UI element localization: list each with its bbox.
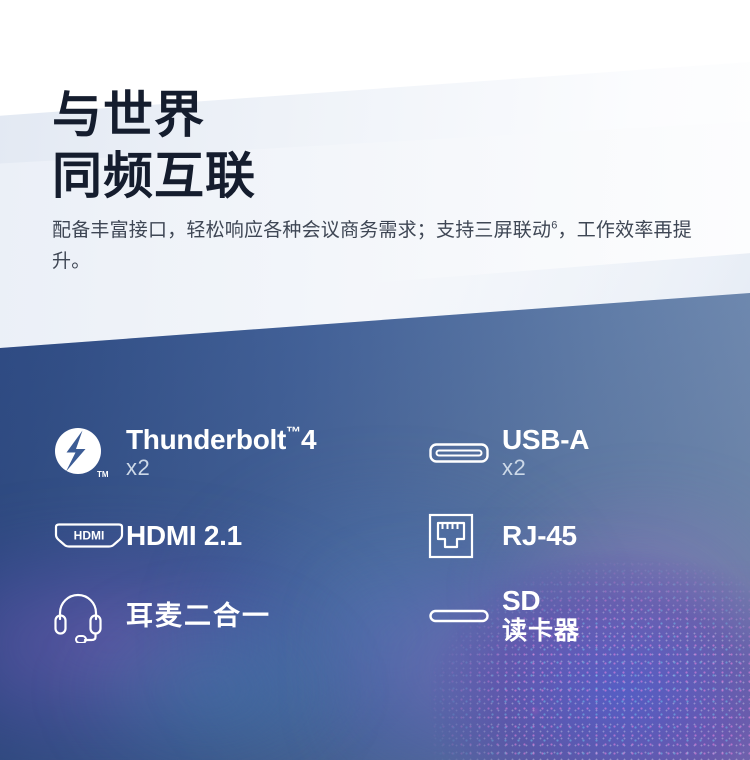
headline-line-1: 与世界: [52, 87, 205, 143]
port-labels: 耳麦二合一: [126, 602, 271, 631]
hdmi-icon: HDMI: [52, 505, 126, 567]
port-labels: SD 读卡器: [502, 586, 580, 646]
port-item-sd-card-reader[interactable]: SD 读卡器: [410, 585, 750, 647]
headset-icon: [52, 585, 126, 647]
svg-text:TM: TM: [97, 470, 108, 479]
port-name: 耳麦二合一: [126, 602, 271, 631]
ports-row: TM Thunderbolt™4 x2 USB-A x2: [0, 415, 750, 491]
headline-line-2: 同频互联: [52, 146, 256, 207]
subtitle-paragraph: 配备丰富接口，轻松响应各种会议商务需求；支持三屏联动6，工作效率再提升。: [52, 216, 692, 278]
port-name: HDMI 2.1: [126, 521, 242, 551]
port-name: RJ-45: [502, 521, 577, 551]
port-name-base: Thunderbolt: [126, 424, 286, 455]
port-name: USB-A: [502, 425, 589, 455]
ports-grid: TM Thunderbolt™4 x2 USB-A x2: [0, 415, 750, 651]
trademark-symbol: ™: [286, 424, 301, 441]
port-item-rj45[interactable]: RJ-45: [410, 505, 750, 567]
port-item-hdmi[interactable]: HDMI HDMI 2.1: [0, 505, 410, 567]
port-subtitle: 读卡器: [502, 617, 580, 647]
port-name: Thunderbolt™4: [126, 425, 316, 455]
feature-panel: 与世界 同频互联 配备丰富接口，轻松响应各种会议商务需求；支持三屏联动6，工作效…: [0, 0, 750, 760]
thunderbolt-icon: TM: [52, 422, 126, 484]
usb-a-icon: [428, 422, 502, 484]
port-item-headset[interactable]: 耳麦二合一: [0, 585, 410, 647]
ports-row: HDMI HDMI 2.1: [0, 505, 750, 567]
port-labels: USB-A x2: [502, 425, 589, 482]
port-quantity: x2: [126, 455, 316, 481]
port-labels: HDMI 2.1: [126, 521, 242, 551]
port-labels: RJ-45: [502, 521, 577, 551]
sd-card-icon: [428, 585, 502, 647]
port-quantity: x2: [502, 455, 589, 481]
port-name: SD: [502, 586, 580, 616]
port-labels: Thunderbolt™4 x2: [126, 425, 316, 482]
port-item-thunderbolt[interactable]: TM Thunderbolt™4 x2: [0, 422, 410, 484]
subtitle-part-1: 配备丰富接口，轻松响应各种会议商务需求；支持三屏联动: [52, 220, 551, 241]
rj45-icon: [428, 505, 502, 567]
port-name-version: 4: [301, 424, 316, 455]
port-item-usb-a[interactable]: USB-A x2: [410, 422, 750, 484]
hdmi-icon-text: HDMI: [74, 529, 105, 543]
ports-row: 耳麦二合一 SD 读卡器: [0, 581, 750, 651]
